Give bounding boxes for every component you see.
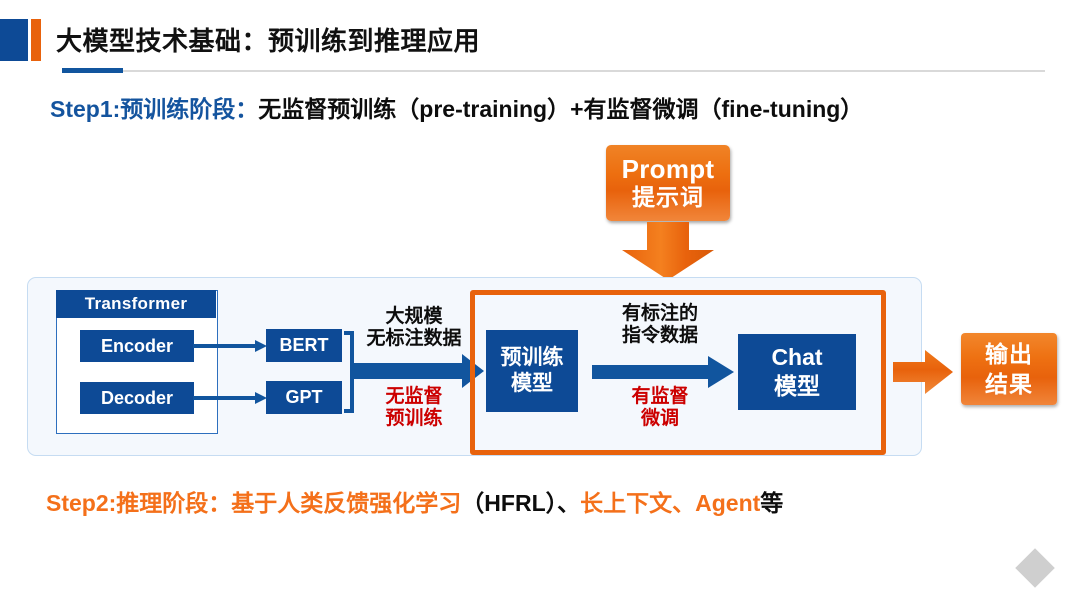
output-arrow-icon [893,348,955,396]
supervised-line1: 有监督 [592,386,728,408]
slide: 大模型技术基础：预训练到推理应用 Step1:预训练阶段：无监督预训练（pre-… [0,0,1080,608]
prompt-down-arrow-icon [620,222,716,280]
output-line2: 结果 [985,369,1033,399]
bert-box: BERT [266,329,342,362]
step2-part3: 长上下文、Agent [580,490,760,516]
page-title: 大模型技术基础：预训练到推理应用 [56,22,856,60]
chat-model-line2: 模型 [774,372,820,401]
header-divider-accent [62,68,123,73]
unlabeled-data-line2: 无标注数据 [352,328,476,350]
header-orange-bar [31,19,41,61]
pretraining-flow-arrow-icon [350,352,486,390]
pretrain-model-line2: 模型 [511,371,553,397]
step2-part2: （HFRL）、 [461,490,580,516]
unlabeled-data-line1: 大规模 [352,306,476,328]
decorative-diamond [1015,548,1055,588]
step1-body: 无监督预训练（pre-training）+有监督微调（fine-tuning） [258,96,863,122]
header-blue-block [0,19,28,61]
encoder-box: Encoder [80,330,194,362]
prompt-box: Prompt 提示词 [606,145,730,221]
finetuning-flow-arrow-icon [592,355,736,389]
step2-part4: 等 [760,490,783,516]
output-box: 输出 结果 [961,333,1057,405]
supervised-finetuning-label: 有监督 微调 [592,386,728,430]
step1-label: Step1:预训练阶段： [50,96,258,122]
decoder-box: Decoder [80,382,194,414]
unsupervised-line2: 预训练 [352,408,476,430]
unsupervised-pretraining-label: 无监督 预训练 [352,386,476,430]
chat-model-line1: Chat [771,343,822,372]
instruction-data-label: 有标注的 指令数据 [590,303,730,347]
step1-text: Step1:预训练阶段：无监督预训练（pre-training）+有监督微调（f… [50,94,863,124]
step2-text: Step2:推理阶段：基于人类反馈强化学习（HFRL）、长上下文、Agent等 [46,488,783,518]
prompt-title: Prompt [622,155,715,184]
transformer-header: Transformer [56,290,216,318]
supervised-line2: 微调 [592,408,728,430]
encoder-to-bert-arrow-icon [193,336,269,356]
unlabeled-data-label: 大规模 无标注数据 [352,306,476,350]
decoder-to-gpt-arrow-icon [193,388,269,408]
output-line1: 输出 [985,339,1033,369]
instruction-data-line1: 有标注的 [590,303,730,325]
pretrain-model-line1: 预训练 [501,345,564,371]
pretrain-model-box: 预训练 模型 [486,330,578,412]
step2-part1: Step2:推理阶段：基于人类反馈强化学习 [46,490,461,516]
gpt-box: GPT [266,381,342,414]
instruction-data-line2: 指令数据 [590,325,730,347]
prompt-subtitle: 提示词 [632,184,704,211]
unsupervised-line1: 无监督 [352,386,476,408]
chat-model-box: Chat 模型 [738,334,856,410]
header-divider [62,70,1045,72]
